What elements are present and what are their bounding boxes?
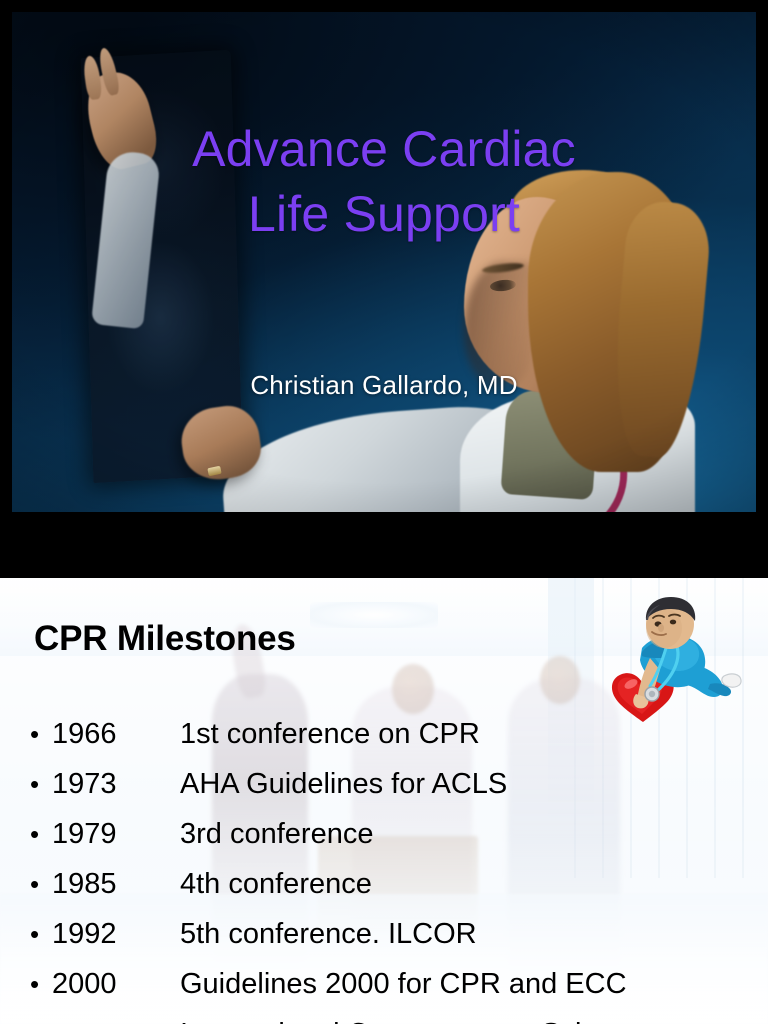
milestone-year: 1985 [52,859,180,909]
bullet-icon: • [30,709,52,759]
milestone-description: 5th conference. ILCOR [180,909,760,959]
milestone-year: 1973 [52,759,180,809]
title-slide-photo: Advance Cardiac Life Support Christian G… [12,12,756,512]
bullet-icon: • [30,859,52,909]
milestone-year: 1979 [52,809,180,859]
ward-figure-head [392,664,434,714]
bullet-icon: • [30,809,52,859]
page-title: Advance Cardiac Life Support [12,117,756,247]
milestone-item: •19925th conference. ILCOR [30,909,760,959]
milestone-item: •2000Guidelines 2000 for CPR and ECC [30,959,760,1009]
milestone-item: •1973AHA Guidelines for ACLS [30,759,760,809]
slide-heading: CPR Milestones [34,619,296,659]
bullet-icon: • [30,759,52,809]
milestone-list: •19661st conference on CPR•1973AHA Guide… [30,709,760,1024]
milestone-description: 4th conference [180,859,760,909]
presenter-name: Christian Gallardo, MD [12,370,756,401]
milestone-continuation: International Consensus on Science [30,1009,760,1024]
milestone-item: •19854th conference [30,859,760,909]
cpr-medic-heart-clipart [598,596,748,748]
milestone-year: 2000 [52,959,180,1009]
milestone-description: 3rd conference [180,809,760,859]
milestone-year: 1966 [52,709,180,759]
ward-figure-head [540,656,580,704]
milestone-year: 1992 [52,909,180,959]
milestone-description: AHA Guidelines for ACLS [180,759,760,809]
title-slide: Advance Cardiac Life Support Christian G… [0,0,768,578]
milestone-item: •19793rd conference [30,809,760,859]
cpr-milestones-slide: CPR Milestones •19661st conference on CP… [0,578,768,1024]
ceiling-light [310,602,438,628]
milestone-continuation-text: International Consensus on Science [30,1009,644,1024]
milestone-description: Guidelines 2000 for CPR and ECC [180,959,760,1009]
bullet-icon: • [30,959,52,1009]
bullet-icon: • [30,909,52,959]
slide-deck-page: Advance Cardiac Life Support Christian G… [0,0,768,1024]
